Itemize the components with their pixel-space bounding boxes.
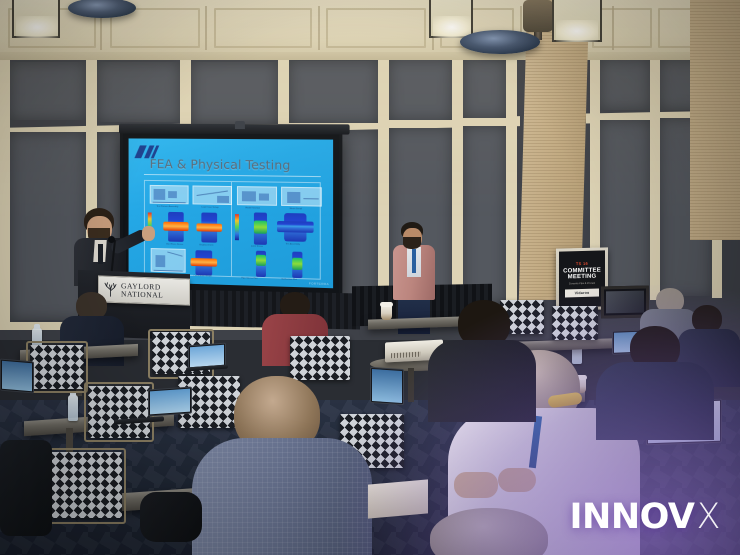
projector-vent: [391, 352, 421, 359]
audience-member-mid-left-suit: [428, 300, 536, 412]
venue-sign-line2: NATIONAL: [121, 290, 163, 299]
fea-plot: [201, 212, 217, 242]
presenter-beard: [403, 237, 421, 249]
slide-caption: Model Section: [245, 207, 260, 209]
audience-laptop-left-front[interactable]: [370, 367, 404, 405]
attendee-hand: [454, 472, 498, 498]
banner-title: COMMITTEE MEETING: [559, 267, 605, 281]
slide-caption: Displacement: [199, 244, 213, 246]
floor-bag: [140, 492, 202, 542]
lantern-light-left: [8, 0, 68, 42]
fea-plot: [284, 213, 306, 242]
audience-member-foreground-blue-check: [192, 376, 372, 555]
audience-head: [430, 508, 548, 555]
slide-title: FEA & Physical Testing: [150, 156, 291, 172]
audience-laptop[interactable]: [0, 359, 34, 394]
slide-caption: Tee Assembly: [286, 243, 300, 245]
fea-plot: [255, 251, 265, 277]
slide-right-panel: Model Section Mesh Detail Joint Stress T…: [230, 182, 319, 279]
slide-caption: Pipe Stress Plot: [241, 277, 257, 279]
slide-diagram-thumb: [281, 187, 322, 207]
water-bottle: [68, 395, 78, 421]
banner-subtitle: Concrete Pipe & Precast: [569, 282, 595, 286]
coffee-cup: [381, 305, 392, 320]
slide-caption: Mesh Detail: [290, 208, 302, 210]
lantern-light-right: [546, 0, 608, 46]
conference-chair: [290, 336, 350, 380]
screen-knob: [235, 121, 245, 129]
fea-plot: [168, 212, 184, 242]
presenter-lanyard: [412, 249, 416, 273]
fea-plot: [253, 212, 266, 244]
banner-sponsor: Vidaroo: [565, 289, 599, 298]
microphone-head: [108, 236, 115, 243]
slide-caption: Load Case Setup: [201, 207, 218, 209]
chair-frame: [26, 341, 88, 393]
speaker-tie: [98, 244, 103, 264]
conference-chair: [552, 306, 598, 340]
fea-plot: [195, 250, 212, 275]
audience-laptop[interactable]: [148, 386, 192, 416]
slide-caption: Correlation Result: [193, 275, 211, 278]
audience-shoulders: [428, 340, 536, 422]
floor-bag: [0, 440, 52, 536]
audience-shoulders: [192, 438, 372, 555]
audience-member-bottom-center: [418, 508, 558, 555]
slide-diagram-thumb: [193, 185, 232, 205]
slide-diagram-thumb: [150, 185, 189, 204]
speaker-hand: [142, 226, 155, 241]
slide-diagram-thumb: [236, 186, 276, 206]
slide-caption: Deflection Plot: [282, 279, 297, 281]
pendant-light-center: [460, 30, 540, 54]
projector-table-stem: [408, 368, 414, 402]
conference-room-photo: FEA & Physical Testing Test Fixture Asse…: [0, 0, 740, 555]
slide-color-legend: [234, 214, 238, 240]
audience-member-right-dark-suit: [596, 326, 714, 426]
slide-corner-logo: FORTERRA: [309, 281, 329, 286]
slide-caption: Von Mises Stress: [166, 243, 183, 245]
slide-caption: Joint Stress: [251, 246, 263, 248]
banner-top-label: TS 16: [576, 261, 588, 266]
slide-content-area: Test Fixture Assembly Load Case Setup Vo…: [144, 180, 321, 280]
chair-frame: [84, 382, 154, 442]
fea-plot: [292, 252, 302, 279]
slide-title-rule: [144, 174, 321, 177]
grasscloth-column-right: [690, 0, 740, 240]
attendee-hand: [498, 468, 536, 492]
audience-shoulders: [596, 362, 714, 440]
printed-handout: [368, 479, 428, 518]
